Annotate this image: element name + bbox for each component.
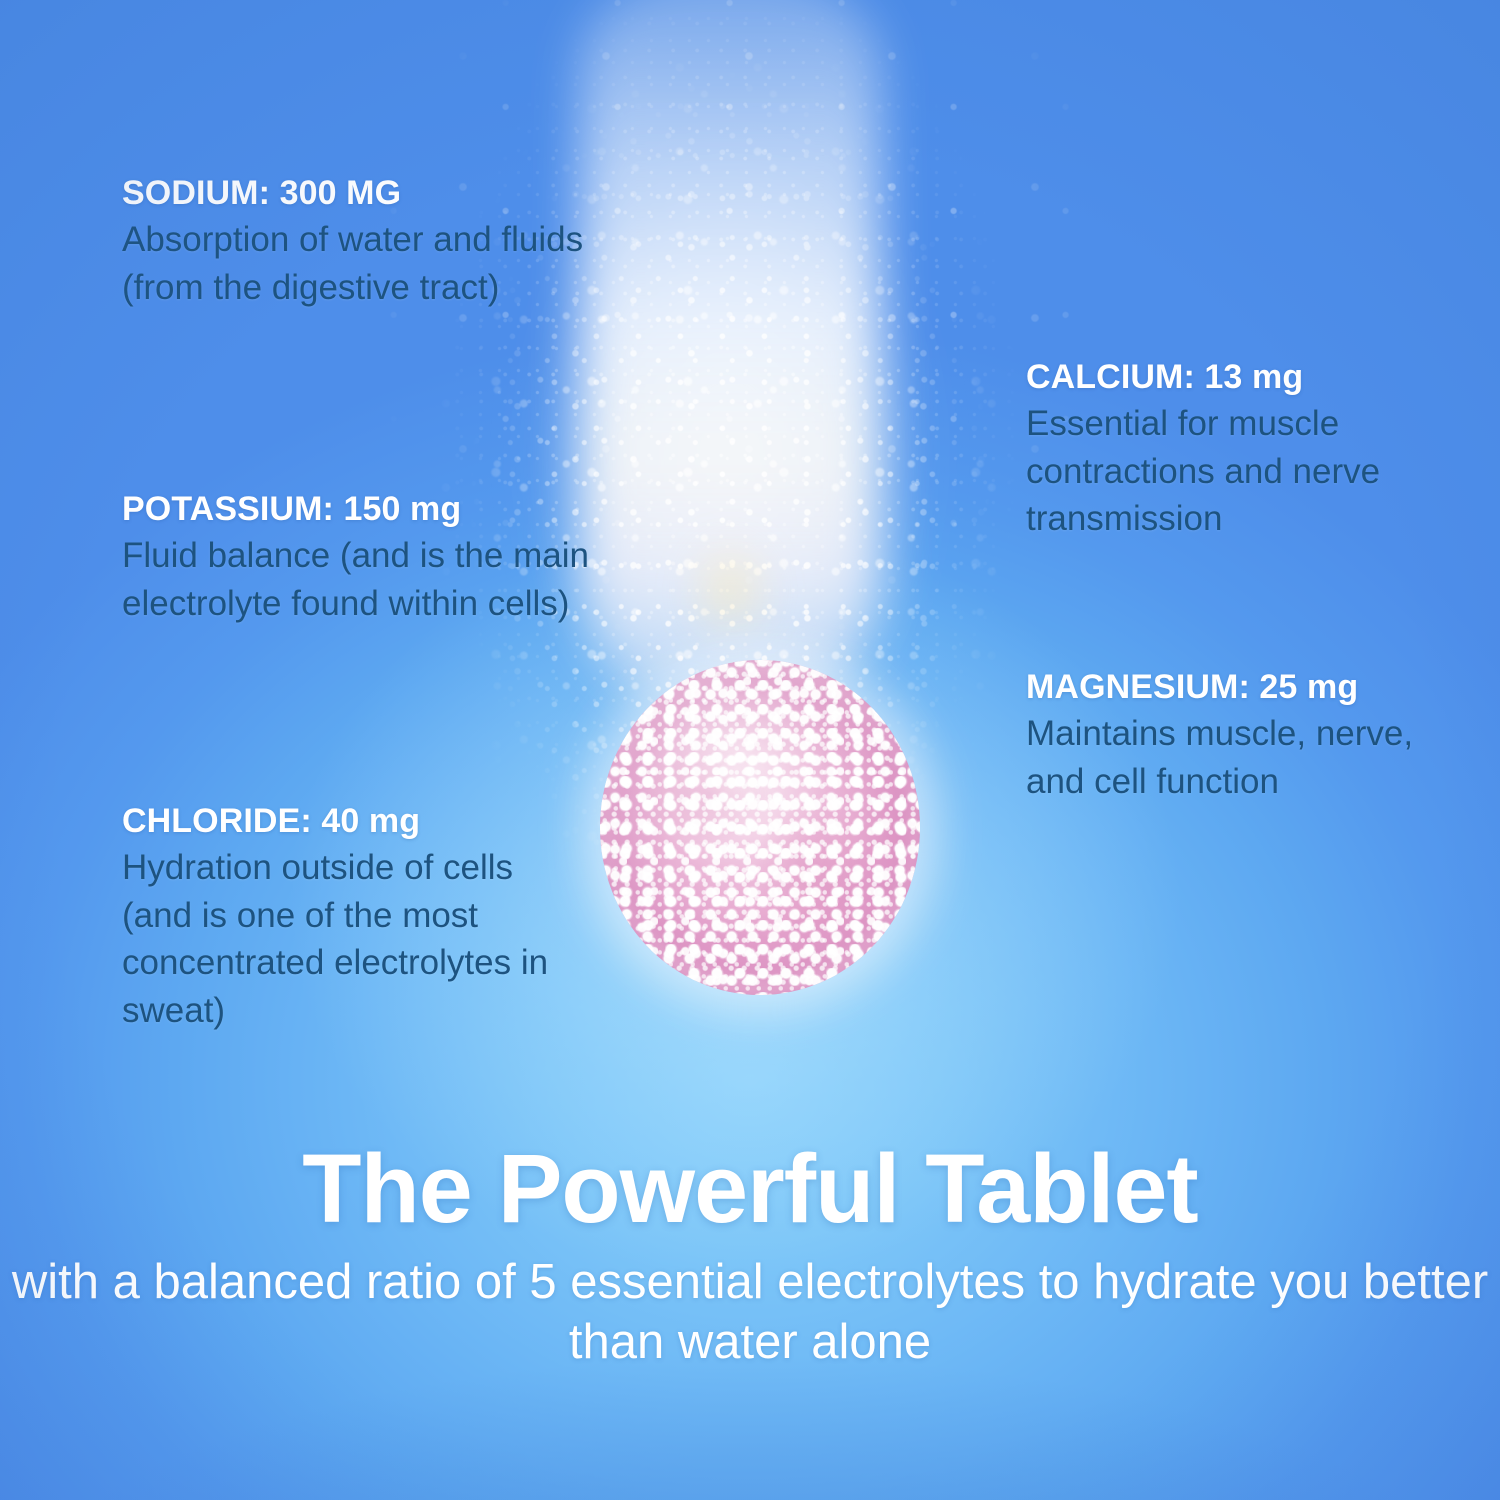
edge-vignette — [0, 0, 1500, 1500]
infographic-canvas: SODIUM: 300 MG Absorption of water and f… — [0, 0, 1500, 1500]
